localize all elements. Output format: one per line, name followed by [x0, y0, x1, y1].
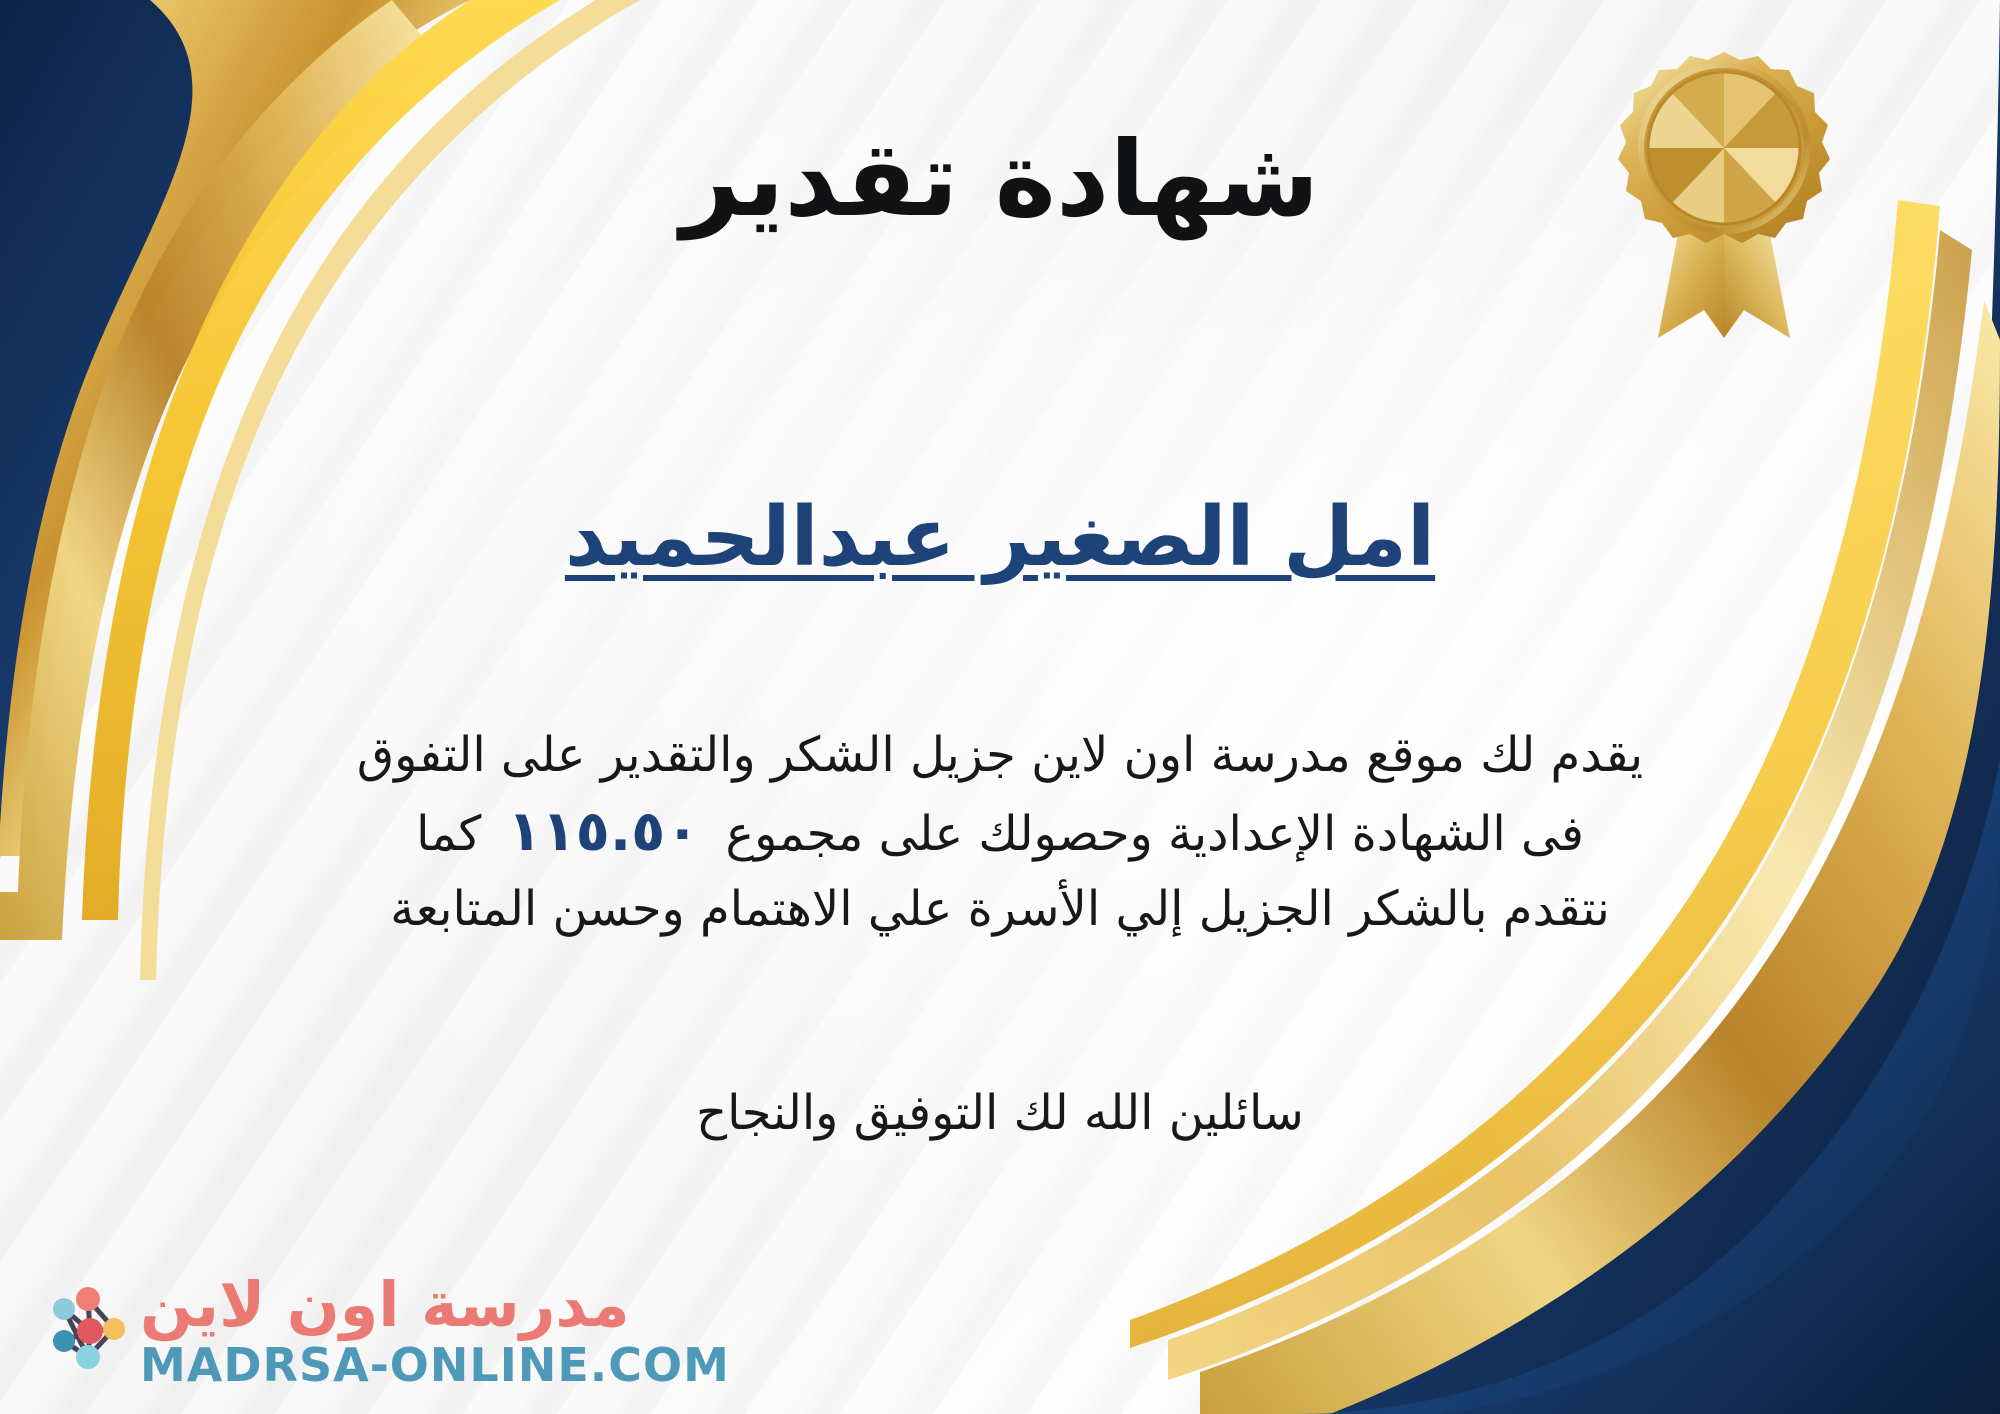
body-line-2-suffix: كما	[416, 806, 481, 862]
brand-logo[interactable]: مدرسة اون لاين MADRSA-ONLINE.COM	[26, 1274, 730, 1388]
score-value: ١١٥.٥٠	[481, 799, 725, 864]
body-line-2-prefix: فى الشهادة الإعدادية وحصولك على مجموع	[725, 806, 1583, 862]
brand-arabic-name: مدرسة اون لاين	[140, 1274, 630, 1336]
certificate-body: يقدم لك موقع مدرسة اون لاين جزيل الشكر و…	[50, 720, 1950, 945]
body-line-3: نتقدم بالشكر الجزيل إلي الأسرة علي الاهت…	[50, 874, 1950, 945]
closing-line: سائلين الله لك التوفيق والنجاح	[0, 1085, 2000, 1141]
brand-url[interactable]: MADRSA-ONLINE.COM	[140, 1342, 730, 1388]
body-line-2: فى الشهادة الإعدادية وحصولك على مجموع١١٥…	[50, 791, 1950, 874]
recipient-name: امل الصغير عبدالحميد	[0, 490, 2000, 585]
brand-text: مدرسة اون لاين MADRSA-ONLINE.COM	[140, 1274, 730, 1388]
certificate-page: شهادة تقدير امل الصغير عبدالحميد يقدم لك…	[0, 0, 2000, 1414]
network-nodes-icon	[26, 1279, 130, 1383]
page-title: شهادة تقدير	[0, 118, 2000, 240]
body-line-1: يقدم لك موقع مدرسة اون لاين جزيل الشكر و…	[50, 720, 1950, 791]
